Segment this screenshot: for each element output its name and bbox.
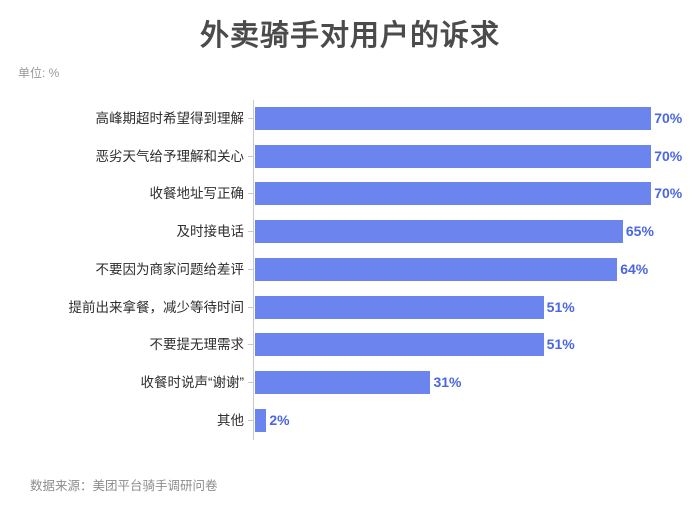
chart-container: 外卖骑手对用户的诉求 单位: % 高峰期超时希望得到理解70%恶劣天气给予理解和…: [0, 0, 700, 510]
axis-tick: [248, 193, 253, 194]
bar[interactable]: [255, 371, 430, 394]
chart-title: 外卖骑手对用户的诉求: [0, 16, 700, 56]
category-label: 提前出来拿餐，减少等待时间: [0, 289, 244, 327]
bar-value-label: 51%: [544, 333, 575, 356]
bar[interactable]: [255, 258, 617, 281]
bar-value-label: 2%: [266, 409, 289, 432]
axis-tick: [248, 156, 253, 157]
bar-track: 51%: [255, 296, 544, 319]
category-label: 收餐地址写正确: [0, 175, 244, 213]
bar[interactable]: [255, 182, 651, 205]
bar-row: 收餐时说声“谢谢”31%: [0, 364, 700, 402]
bar-row: 不要提无理需求51%: [0, 326, 700, 364]
bar[interactable]: [255, 409, 266, 432]
bar-row: 不要因为商家问题给差评64%: [0, 251, 700, 289]
bar-value-label: 64%: [617, 258, 648, 281]
axis-tick: [248, 269, 253, 270]
bar-value-label: 70%: [651, 107, 682, 130]
axis-tick: [248, 420, 253, 421]
bar-value-label: 51%: [544, 296, 575, 319]
axis-tick: [248, 118, 253, 119]
bar-track: 64%: [255, 258, 617, 281]
category-label: 其他: [0, 402, 244, 440]
bar-row: 高峰期超时希望得到理解70%: [0, 100, 700, 138]
bar-value-label: 70%: [651, 182, 682, 205]
category-label: 及时接电话: [0, 213, 244, 251]
category-label: 收餐时说声“谢谢”: [0, 364, 244, 402]
axis-tick: [248, 307, 253, 308]
axis-tick: [248, 231, 253, 232]
bar-row: 提前出来拿餐，减少等待时间51%: [0, 289, 700, 327]
unit-note: 单位: %: [18, 64, 59, 82]
source-note: 数据来源：美团平台骑手调研问卷: [30, 476, 218, 496]
bar-track: 70%: [255, 107, 651, 130]
bar[interactable]: [255, 145, 651, 168]
bar-track: 2%: [255, 409, 266, 432]
bar-track: 31%: [255, 371, 430, 394]
bar-track: 65%: [255, 220, 623, 243]
plot-area: 高峰期超时希望得到理解70%恶劣天气给予理解和关心70%收餐地址写正确70%及时…: [0, 100, 700, 440]
category-label: 高峰期超时希望得到理解: [0, 100, 244, 138]
bar[interactable]: [255, 296, 544, 319]
bar-value-label: 31%: [430, 371, 461, 394]
bar-track: 70%: [255, 182, 651, 205]
bar-track: 51%: [255, 333, 544, 356]
bar[interactable]: [255, 220, 623, 243]
bar-row: 其他2%: [0, 402, 700, 440]
category-label: 恶劣天气给予理解和关心: [0, 138, 244, 176]
category-label: 不要因为商家问题给差评: [0, 251, 244, 289]
axis-tick: [248, 344, 253, 345]
bar-row: 收餐地址写正确70%: [0, 175, 700, 213]
bar-value-label: 65%: [623, 220, 654, 243]
axis-tick: [248, 382, 253, 383]
bar[interactable]: [255, 107, 651, 130]
bar-rows: 高峰期超时希望得到理解70%恶劣天气给予理解和关心70%收餐地址写正确70%及时…: [0, 100, 700, 440]
category-label: 不要提无理需求: [0, 326, 244, 364]
bar-value-label: 70%: [651, 145, 682, 168]
bar-row: 恶劣天气给予理解和关心70%: [0, 138, 700, 176]
bar-row: 及时接电话65%: [0, 213, 700, 251]
bar[interactable]: [255, 333, 544, 356]
bar-track: 70%: [255, 145, 651, 168]
